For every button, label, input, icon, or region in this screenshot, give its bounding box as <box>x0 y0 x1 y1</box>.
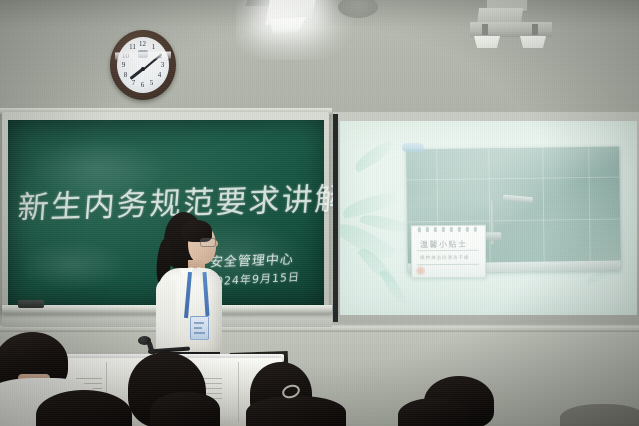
clock-numeral: 12 <box>138 40 147 49</box>
audience-head <box>246 396 346 426</box>
podium-panel-seam <box>238 362 239 422</box>
audience-head <box>398 398 470 426</box>
tile-grout-line <box>588 147 591 271</box>
note-coil <box>474 227 477 232</box>
badge-text-line <box>194 327 202 329</box>
ceiling-projector <box>470 8 550 40</box>
projector-vent <box>482 24 488 35</box>
note-coil <box>458 227 461 232</box>
note-coil <box>450 227 453 232</box>
clock-numeral: 1 <box>149 43 158 52</box>
note-coil <box>434 227 437 232</box>
audience-head <box>560 404 639 426</box>
id-badge <box>190 316 209 340</box>
chalk-smudge <box>18 240 128 290</box>
presenter-arm <box>156 278 176 356</box>
clock-numeral: 6 <box>138 81 147 90</box>
tile-grout-line <box>542 148 545 272</box>
note-coil <box>426 227 429 232</box>
note-coil <box>418 227 421 232</box>
badge-text-line <box>194 332 205 334</box>
projector-vent <box>532 24 538 35</box>
classroom-photo: 12 1 2 3 4 5 6 7 8 9 10 11 新生内务规范要求讲解 安全… <box>0 0 639 426</box>
clock-numeral: 4 <box>155 71 164 80</box>
slide-leaf-icon <box>379 267 407 306</box>
podium-vent-slot <box>76 378 102 379</box>
shower-head-icon <box>503 195 533 204</box>
clock-center-pin <box>141 67 145 71</box>
clock-numeral: 5 <box>147 79 156 88</box>
slide-note-card: 温馨小贴士 保持淋浴间清洁干燥 <box>411 225 486 279</box>
glasses-icon <box>200 238 216 247</box>
blackboard-eraser-icon <box>18 300 44 308</box>
clock-face: 12 1 2 3 4 5 6 7 8 9 10 11 <box>117 37 169 93</box>
badge-text-line <box>194 322 204 324</box>
clock-numeral: 3 <box>158 61 167 70</box>
slide-note-body: 保持淋浴间清洁干燥 <box>420 255 470 261</box>
audience-head <box>150 392 220 426</box>
slide-note-title: 温馨小贴士 <box>420 239 468 250</box>
slide-leaf-icon <box>351 139 396 172</box>
projector-foot <box>520 36 546 48</box>
note-coil <box>466 227 469 232</box>
microphone-icon <box>138 336 151 345</box>
clock-numeral: 9 <box>119 61 128 70</box>
screen-left-edge <box>333 114 338 322</box>
fluorescent-light-icon <box>265 0 317 26</box>
clock-glass-glare <box>115 52 171 60</box>
clock-numeral: 11 <box>128 43 137 52</box>
slide-tag-badge <box>402 143 424 152</box>
projection-screen: 温馨小贴士 保持淋浴间清洁干燥 <box>340 121 637 315</box>
note-stamp-icon <box>416 266 425 275</box>
projector-foot <box>474 36 500 48</box>
clock-numeral: 7 <box>129 79 138 88</box>
shower-valve-icon <box>483 232 501 240</box>
note-coil <box>442 227 445 232</box>
clock-numeral: 8 <box>121 71 130 80</box>
note-rule-line <box>417 264 479 265</box>
wall-clock: 12 1 2 3 4 5 6 7 8 9 10 11 <box>110 30 176 100</box>
